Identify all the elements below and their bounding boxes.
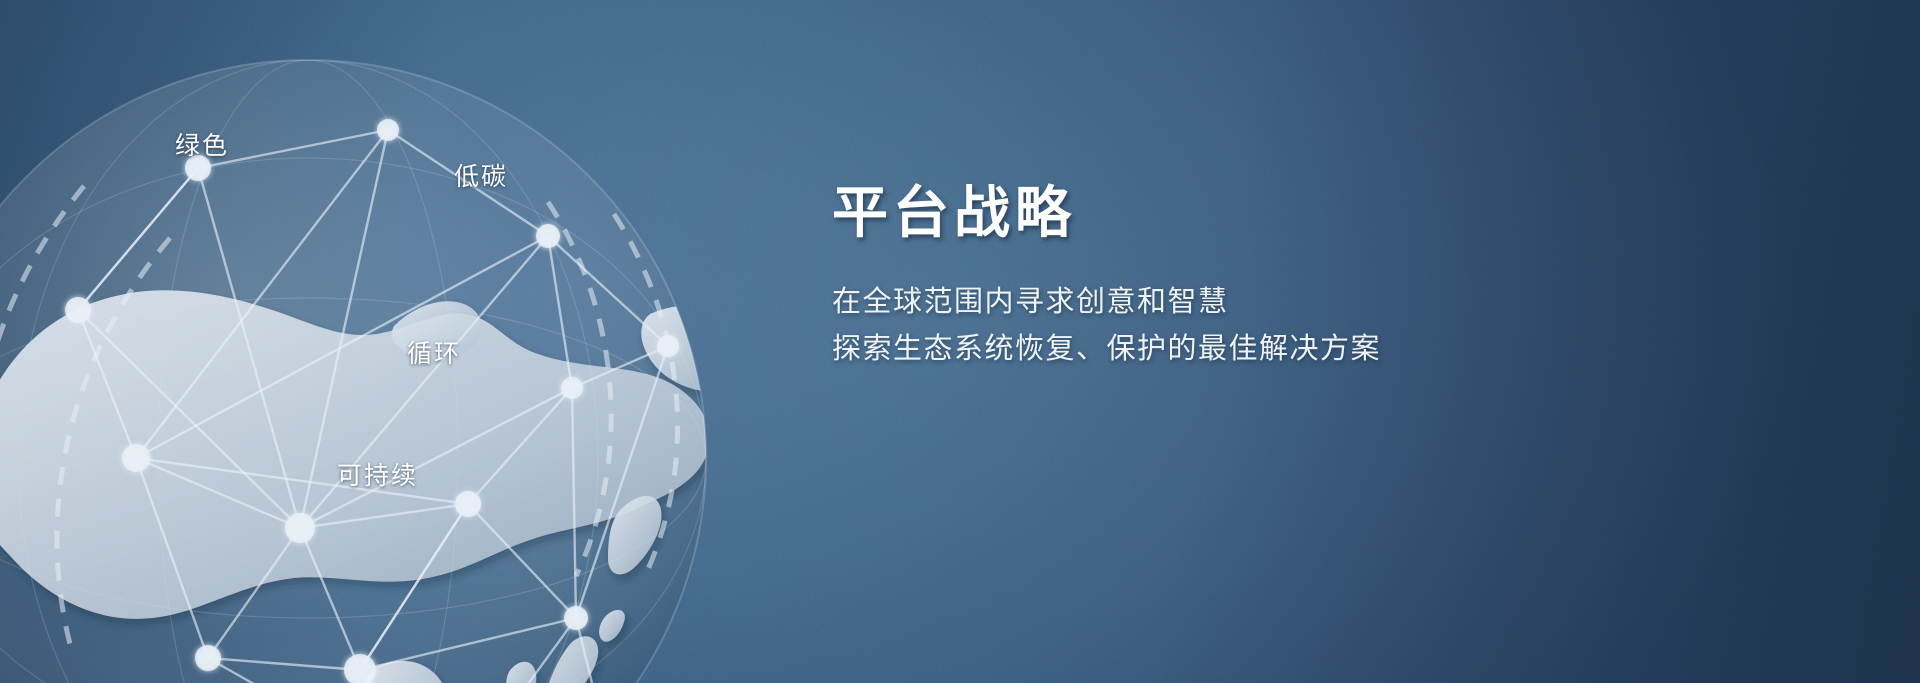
hero-subtitle-line-2: 探索生态系统恢复、保护的最佳解决方案 bbox=[832, 325, 1592, 372]
globe-label-low-carbon: 低碳 bbox=[454, 157, 508, 193]
globe-label-circular: 循环 bbox=[407, 334, 461, 370]
globe-label-sustainable: 可持续 bbox=[337, 456, 418, 492]
hero-banner: 绿色 低碳 循环 可持续 平台战略 在全球范围内寻求创意和智慧 探索生态系统恢复… bbox=[0, 0, 1920, 683]
hero-subtitle-line-1: 在全球范围内寻求创意和智慧 bbox=[832, 278, 1592, 325]
hero-title: 平台战略 bbox=[832, 183, 1592, 246]
globe-label-green: 绿色 bbox=[175, 126, 229, 162]
hero-subtitle: 在全球范围内寻求创意和智慧 探索生态系统恢复、保护的最佳解决方案 bbox=[832, 278, 1592, 372]
hero-copy: 平台战略 在全球范围内寻求创意和智慧 探索生态系统恢复、保护的最佳解决方案 bbox=[832, 183, 1592, 372]
